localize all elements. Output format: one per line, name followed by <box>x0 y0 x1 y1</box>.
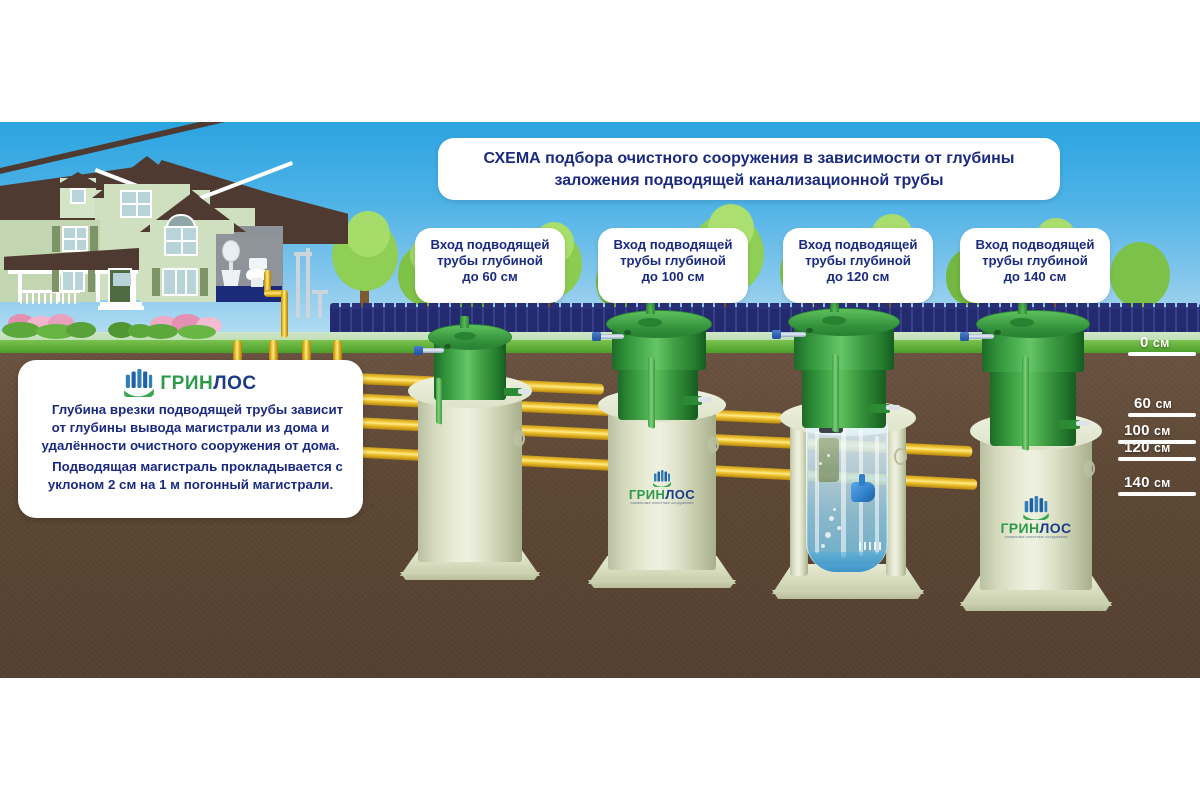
greenlos-logo-icon <box>1023 496 1049 520</box>
brand-word-green: ГРИН <box>160 373 213 394</box>
window <box>120 190 152 218</box>
window <box>62 226 88 252</box>
tank-logo-subtitle: локальные очистные сооружения <box>612 502 712 506</box>
depth-label-0: 0 см <box>1140 334 1170 351</box>
info-box: ГРИНЛОС Глубина врезки подводящей трубы … <box>18 360 363 518</box>
front-door <box>108 268 132 305</box>
main-title-line-2: заложения подводящей канализационной тру… <box>456 170 1042 192</box>
depth-label-120: 120 см <box>1124 439 1171 456</box>
callout-bubble-140cm: Вход подводящей трубы глубиной до 140 см <box>960 228 1110 303</box>
tank-logo-subtitle: локальные очистные сооружения <box>986 536 1086 540</box>
depth-value-140: 140 <box>1124 474 1150 491</box>
info-paragraph-2: Подводящая магистраль прокладывается с у… <box>30 458 351 494</box>
treatment-unit-1 <box>400 318 540 600</box>
infographic-canvas: ГРИНЛОС локальные очистные сооружения <box>0 0 1200 800</box>
callout-4-line-1: Вход подводящей <box>970 237 1100 253</box>
callout-bubble-100cm: Вход подводящей трубы глубиной до 100 см <box>598 228 748 303</box>
depth-line-120 <box>1118 457 1196 461</box>
vent-pipe <box>646 302 655 314</box>
depth-unit-100: см <box>1154 424 1171 438</box>
depth-line-60 <box>1128 413 1196 417</box>
callout-3-line-3: до 120 см <box>793 269 923 285</box>
callout-1-line-2: трубы глубиной <box>425 253 555 269</box>
vent-pipe <box>460 316 469 328</box>
brand-wordmark: ГРИНЛОС <box>160 374 256 393</box>
tank-handle <box>894 448 907 465</box>
vent-pipe <box>1018 302 1027 314</box>
window <box>162 268 198 296</box>
main-title-bubble: СХЕМА подбора очистного сооружения в зав… <box>438 138 1060 200</box>
greenlos-logo-icon <box>124 369 154 397</box>
depth-value-120: 120 <box>1124 439 1150 456</box>
window <box>164 226 198 256</box>
callout-4-line-2: трубы глубиной <box>970 253 1100 269</box>
depth-value-60: 60 <box>1134 395 1151 412</box>
house <box>0 130 340 352</box>
tank-brand-print: ГРИНЛОС локальные очистные сооружения <box>612 470 712 506</box>
tank-handle <box>512 430 525 447</box>
brand-word-blue: ЛОС <box>213 373 256 394</box>
treatment-unit-3-cutaway <box>772 308 924 620</box>
main-title-line-1: СХЕМА подбора очистного сооружения в зав… <box>456 148 1042 170</box>
depth-line-0 <box>1128 352 1196 356</box>
callout-1-line-3: до 60 см <box>425 269 555 285</box>
tank-logo-blue: ЛОС <box>665 487 695 502</box>
callout-4-line-3: до 140 см <box>970 269 1100 285</box>
window <box>61 270 85 292</box>
info-paragraph-1: Глубина врезки подводящей трубы зависит … <box>30 401 351 455</box>
depth-value-0: 0 <box>1140 334 1149 351</box>
callout-bubble-120cm: Вход подводящей трубы глубиной до 120 см <box>783 228 933 303</box>
brand-logo: ГРИНЛОС <box>30 369 351 397</box>
depth-unit-140: см <box>1154 476 1171 490</box>
tank-logo-blue: ЛОС <box>1040 520 1072 536</box>
tank-interior-cutaway <box>806 420 888 572</box>
depth-unit-120: см <box>1154 441 1171 455</box>
treatment-unit-2: ГРИНЛОС локальные очистные сооружения <box>588 308 736 608</box>
tank-handle <box>1082 460 1095 477</box>
depth-label-100: 100 см <box>1124 422 1171 439</box>
callout-3-line-1: Вход подводящей <box>793 237 923 253</box>
greenlos-logo-icon <box>653 470 671 487</box>
tank-logo-green: ГРИН <box>1000 520 1039 536</box>
callout-3-line-2: трубы глубиной <box>793 253 923 269</box>
callout-bubble-60cm: Вход подводящей трубы глубиной до 60 см <box>415 228 565 303</box>
callout-2-line-1: Вход подводящей <box>608 237 738 253</box>
tank-logo-green: ГРИН <box>629 487 665 502</box>
depth-unit-60: см <box>1155 397 1172 411</box>
callout-2-line-2: трубы глубиной <box>608 253 738 269</box>
depth-value-100: 100 <box>1124 422 1150 439</box>
depth-line-140 <box>1118 492 1196 496</box>
callout-2-line-3: до 100 см <box>608 269 738 285</box>
tank-brand-print: ГРИНЛОС локальные очистные сооружения <box>986 496 1086 540</box>
depth-unit-0: см <box>1153 336 1170 350</box>
tank-handle <box>706 436 719 453</box>
depth-label-140: 140 см <box>1124 474 1171 491</box>
treatment-unit-4: ГРИНЛОС локальные очистные сооружения <box>960 308 1112 632</box>
depth-label-60: 60 см <box>1134 395 1172 412</box>
callout-1-line-1: Вход подводящей <box>425 237 555 253</box>
house-drain-riser <box>281 290 288 338</box>
